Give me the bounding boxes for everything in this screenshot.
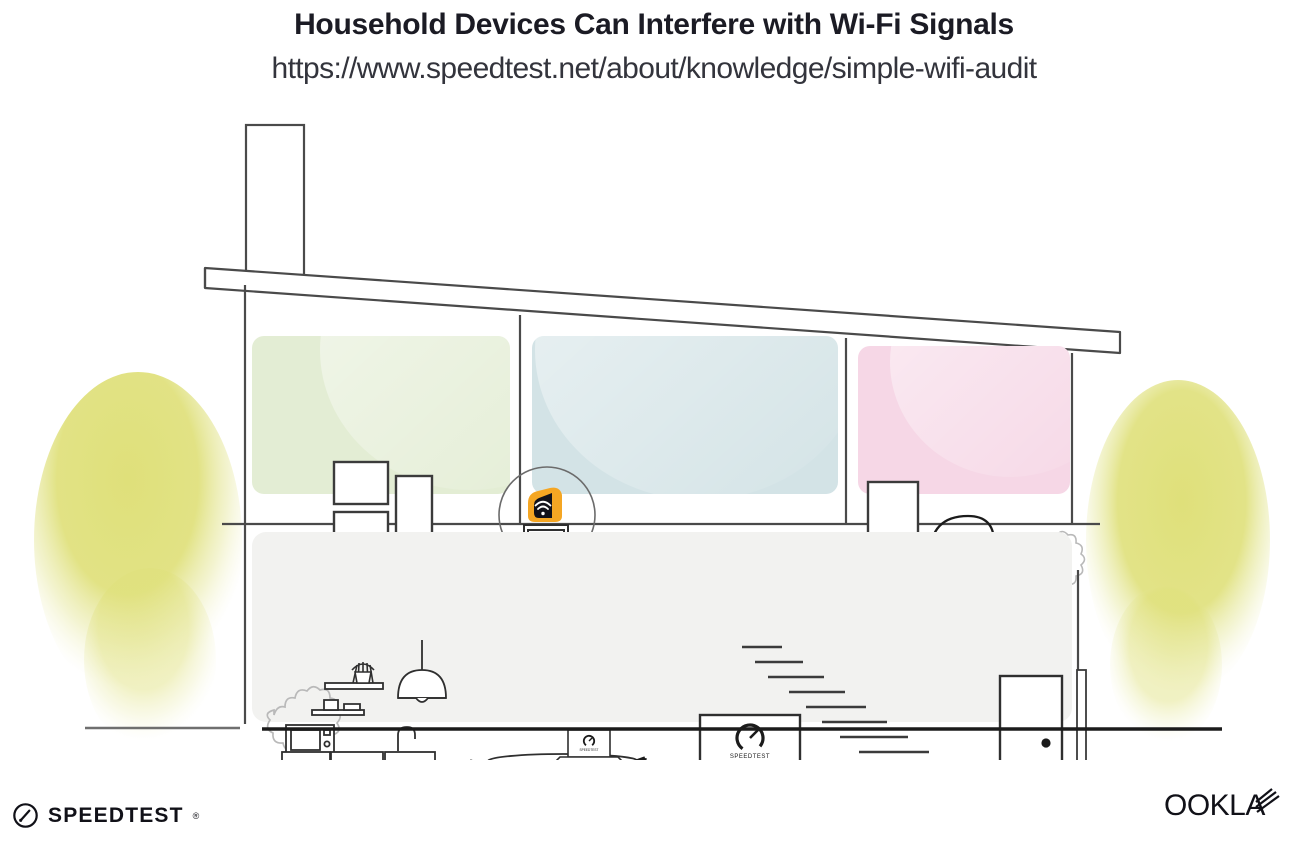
wifi-router [528, 488, 562, 522]
front-door[interactable] [1000, 676, 1062, 760]
tree-left [34, 372, 242, 752]
chimney [246, 125, 304, 275]
door-sidelight [1077, 670, 1086, 760]
speedtest-trademark: ® [193, 811, 200, 821]
ookla-wordmark: OOKLA [1164, 789, 1265, 822]
house-illustration: SPEEDTEST [0, 100, 1308, 760]
ookla-logo: OOKLA [1164, 786, 1308, 831]
kitchen-shelf-upper [325, 683, 383, 689]
page-title: Household Devices Can Interfere with Wi-… [0, 8, 1308, 42]
footer: SPEEDTEST ® OOKLA [0, 766, 1308, 861]
ground-floor: SPEEDTEST SPEEDTEST [245, 524, 1086, 760]
poster: Household Devices Can Interfere with Wi-… [0, 0, 1308, 861]
television: SPEEDTEST [700, 715, 800, 760]
speedtest-wordmark: SPEEDTEST [48, 804, 184, 828]
door-knob [1041, 738, 1050, 747]
source-url: https://www.speedtest.net/about/knowledg… [0, 52, 1308, 86]
kitchen-cabinets [282, 752, 435, 760]
tree-right [1086, 380, 1270, 745]
speedtest-logo: SPEEDTEST ® [12, 802, 199, 829]
speedometer-icon [12, 802, 39, 829]
laptop-screen-label: SPEEDTEST [580, 748, 599, 752]
tv-screen-label: SPEEDTEST [730, 754, 770, 760]
